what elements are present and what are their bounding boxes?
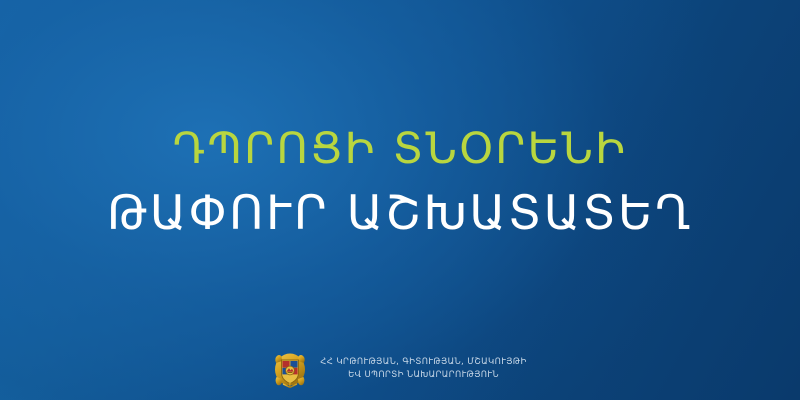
headline-line-2: ԹԱՓՈՒՐ ԱՇԽԱՏԱՏԵՂ bbox=[0, 184, 800, 244]
headline-line-1: ԴՊՐՈՑԻ ՏՆՕՐԵՆԻ bbox=[0, 122, 800, 177]
ministry-name: ՀՀ ԿՐԹՈՒԹՅԱՆ, ԳԻՏՈՒԹՅԱՆ, ՄՇԱԿՈՒՅԹԻ ԵՎ ՍՊ… bbox=[320, 357, 526, 380]
ministry-lockup: ՀՀ ԿՐԹՈՒԹՅԱՆ, ԳԻՏՈՒԹՅԱՆ, ՄՇԱԿՈՒՅԹԻ ԵՎ ՍՊ… bbox=[0, 350, 800, 388]
headline-block: ԴՊՐՈՑԻ ՏՆՕՐԵՆԻ ԹԱՓՈՒՐ ԱՇԽԱՏԱՏԵՂ bbox=[0, 122, 800, 244]
announcement-banner: ԴՊՐՈՑԻ ՏՆՕՐԵՆԻ ԹԱՓՈՒՐ ԱՇԽԱՏԱՏԵՂ bbox=[0, 0, 800, 400]
armenian-coat-of-arms-icon bbox=[273, 350, 307, 388]
ministry-name-line-1: ՀՀ ԿՐԹՈՒԹՅԱՆ, ԳԻՏՈՒԹՅԱՆ, ՄՇԱԿՈՒՅԹԻ bbox=[320, 357, 526, 368]
ministry-name-line-2: ԵՎ ՍՊՈՐՏԻ ՆԱԽԱՐԱՐՈՒԹՅՈՒՆ bbox=[348, 370, 499, 381]
